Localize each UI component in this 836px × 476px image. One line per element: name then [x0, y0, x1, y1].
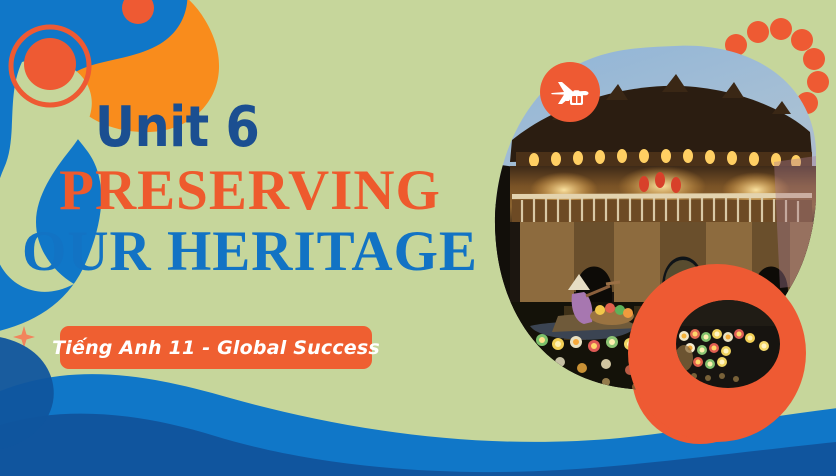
slide-canvas: Unit 6 PRESERVING OUR HERITAGE Tiếng Anh… — [0, 0, 836, 476]
course-badge[interactable]: Tiếng Anh 11 - Global Success — [60, 326, 372, 369]
lantern-inset-photo — [676, 300, 780, 388]
title-line-our-heritage: OUR HERITAGE — [0, 223, 500, 280]
airplane-luggage-icon — [549, 75, 591, 109]
title-line-preserving: PRESERVING — [0, 162, 500, 219]
airplane-luggage-badge[interactable] — [540, 62, 600, 122]
title-group: Unit 6 PRESERVING OUR HERITAGE — [0, 100, 500, 280]
course-badge-label: Tiếng Anh 11 - Global Success — [52, 337, 380, 359]
lantern-inset-graphic — [676, 300, 780, 388]
unit-number-label: Unit 6 — [95, 100, 451, 156]
orange-dot-large-top-left — [24, 38, 76, 90]
